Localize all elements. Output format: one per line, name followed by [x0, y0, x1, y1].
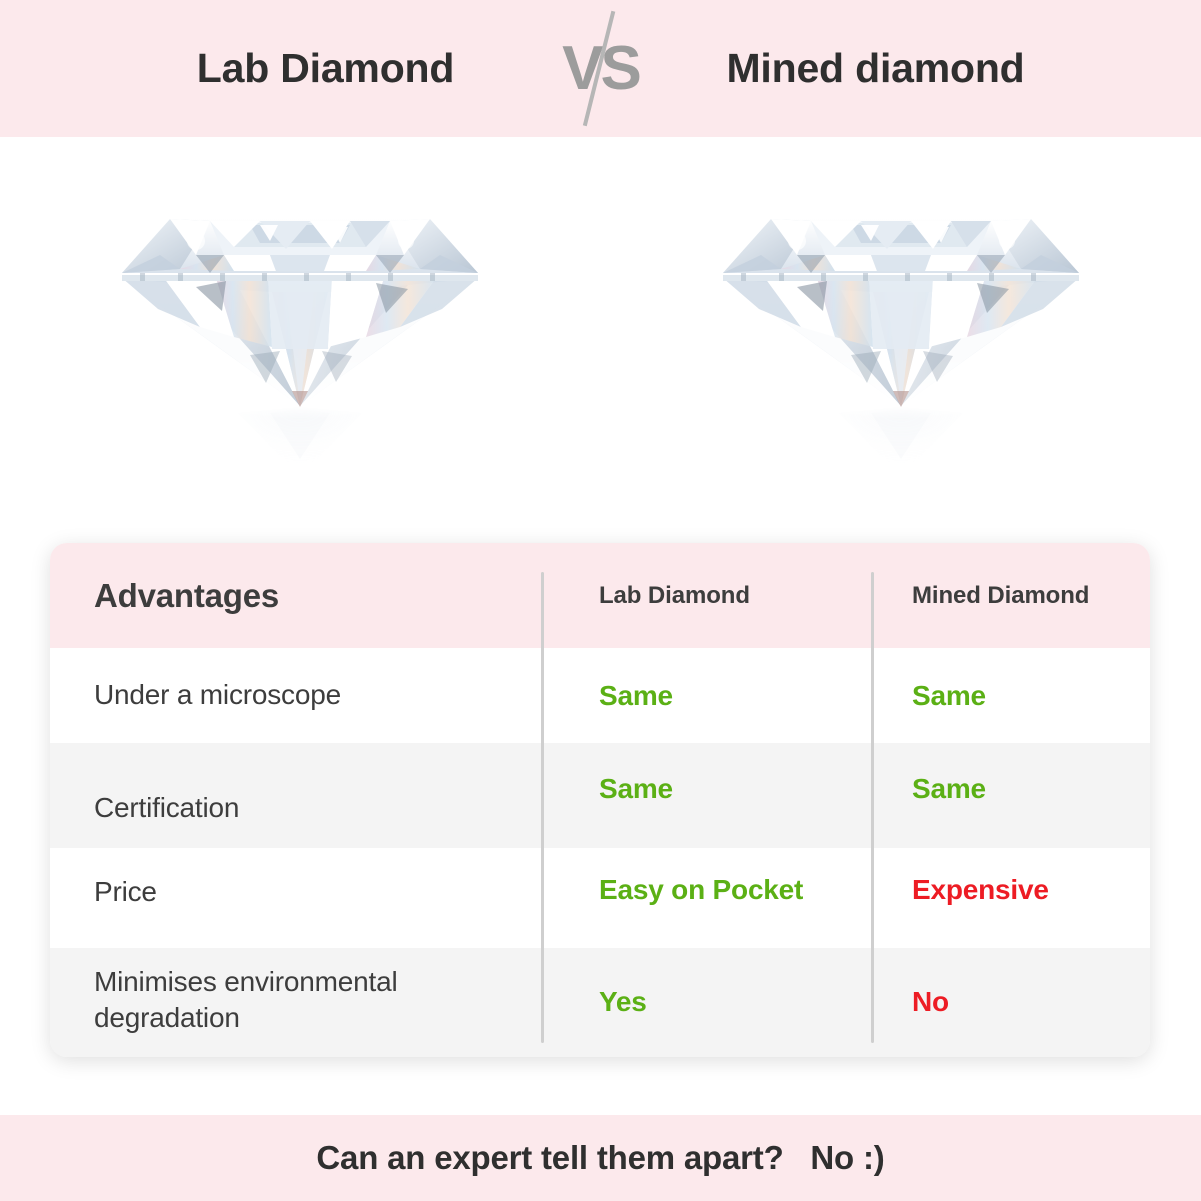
- mined-value: Same: [912, 773, 986, 805]
- table-row: Price Easy on Pocket Expensive: [50, 848, 1150, 948]
- row-feature-cell: Minimises environmental degradation: [50, 948, 541, 1057]
- column-divider-1: [541, 572, 544, 1043]
- table-row: Minimises environmental degradation Yes …: [50, 948, 1150, 1057]
- table-row: Certification Same Same: [50, 743, 1150, 848]
- row-mined-cell: Same: [871, 743, 1150, 848]
- mined-diamond-image: [601, 137, 1201, 537]
- lab-value: Yes: [599, 986, 647, 1018]
- row-lab-cell: Easy on Pocket: [541, 848, 871, 948]
- row-lab-cell: Same: [541, 648, 871, 743]
- footer-question: Can an expert tell them apart? No :): [316, 1139, 884, 1177]
- row-mined-cell: No: [871, 948, 1150, 1057]
- footer-banner: Can an expert tell them apart? No :): [0, 1115, 1201, 1201]
- mined-value: Same: [912, 680, 986, 712]
- row-feature-cell: Price: [50, 848, 541, 948]
- lab-diamond-image: [0, 137, 601, 537]
- header-banner: Lab Diamond VS Mined diamond: [0, 0, 1201, 137]
- row-lab-cell: Same: [541, 743, 871, 848]
- feature-label: Certification: [94, 790, 239, 826]
- comparison-table: Advantages Lab Diamond Mined Diamond Und…: [50, 543, 1150, 1057]
- infographic-page: Lab Diamond VS Mined diamond: [0, 0, 1201, 1201]
- header-label-lab: Lab Diamond: [599, 582, 750, 610]
- header-cell-advantages: Advantages: [50, 543, 541, 648]
- table-row: Under a microscope Same Same: [50, 648, 1150, 743]
- row-lab-cell: Yes: [541, 948, 871, 1057]
- column-divider-2: [871, 572, 874, 1043]
- mined-value: No: [912, 986, 949, 1018]
- lab-value: Same: [599, 680, 673, 712]
- feature-label: Minimises environmental degradation: [94, 964, 541, 1037]
- versus-badge: VS: [541, 0, 661, 137]
- diamond-icon: [701, 159, 1101, 489]
- lab-value: Same: [599, 773, 673, 805]
- row-feature-cell: Under a microscope: [50, 648, 541, 743]
- diamond-icon: [100, 159, 500, 489]
- comparison-card: Advantages Lab Diamond Mined Diamond Und…: [50, 543, 1150, 1057]
- header-cell-mined: Mined Diamond: [871, 543, 1150, 648]
- feature-label: Under a microscope: [94, 677, 341, 713]
- header-title-right: Mined diamond: [661, 45, 1091, 92]
- table-header-row: Advantages Lab Diamond Mined Diamond: [50, 543, 1150, 648]
- header-label-mined: Mined Diamond: [912, 582, 1089, 610]
- feature-label: Price: [94, 874, 157, 910]
- header-cell-lab: Lab Diamond: [541, 543, 871, 648]
- header-title-left: Lab Diamond: [111, 45, 541, 92]
- diamond-gallery: [0, 137, 1201, 537]
- mined-value: Expensive: [912, 874, 1049, 906]
- row-mined-cell: Expensive: [871, 848, 1150, 948]
- header-label-advantages: Advantages: [94, 577, 279, 615]
- row-feature-cell: Certification: [50, 743, 541, 848]
- row-mined-cell: Same: [871, 648, 1150, 743]
- lab-value: Easy on Pocket: [599, 874, 803, 906]
